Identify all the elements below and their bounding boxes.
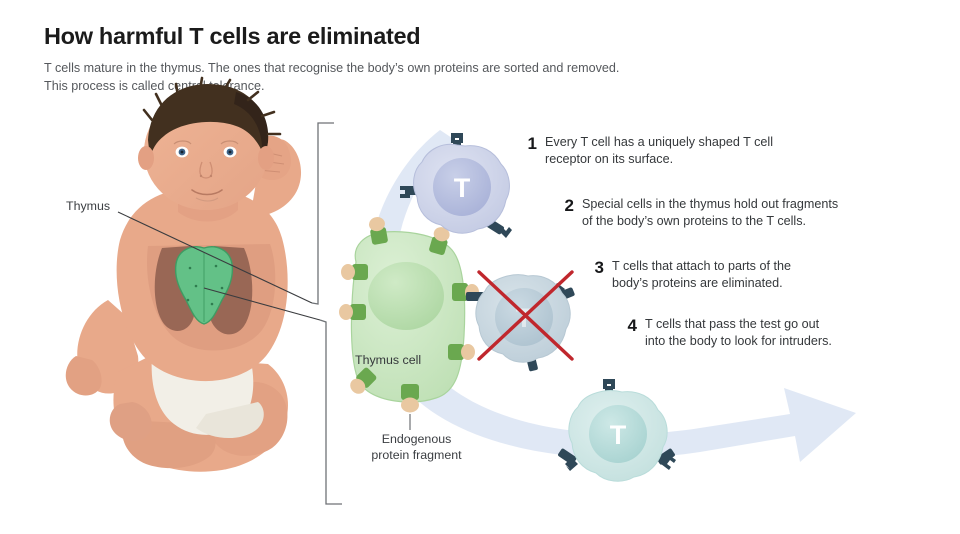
step-number: 4 <box>620 316 637 336</box>
t-cell-letter: T <box>610 420 627 450</box>
step-text: T cells that pass the test go out into t… <box>645 316 832 349</box>
t-cell-letter: T <box>454 173 471 203</box>
step-number: 3 <box>587 258 604 278</box>
label-endogenous-protein-fragment: Endogenous protein fragment <box>349 431 484 463</box>
label-thymus: Thymus <box>66 198 110 214</box>
step-number: 1 <box>520 134 537 154</box>
t-cell-mature: T <box>557 379 676 481</box>
label-thymus-cell: Thymus cell <box>355 352 421 368</box>
t-cell-naive: T <box>400 133 512 238</box>
baby-illustration <box>66 78 301 472</box>
grouping-bracket <box>312 123 342 504</box>
step-item-2: 2 Special cells in the thymus hold out f… <box>557 196 937 229</box>
step-item-3: 3 T cells that attach to parts of the bo… <box>587 258 907 291</box>
step-item-1: 1 Every T cell has a uniquely shaped T c… <box>520 134 850 167</box>
step-text: T cells that attach to parts of the body… <box>612 258 791 291</box>
infographic-poster: How harmful T cells are eliminated T cel… <box>0 0 960 534</box>
step-text: Special cells in the thymus hold out fra… <box>582 196 838 229</box>
t-cell-eliminated: T <box>466 272 575 372</box>
step-item-4: 4 T cells that pass the test go out into… <box>620 316 950 349</box>
step-text: Every T cell has a uniquely shaped T cel… <box>545 134 773 167</box>
step-number: 2 <box>557 196 574 216</box>
